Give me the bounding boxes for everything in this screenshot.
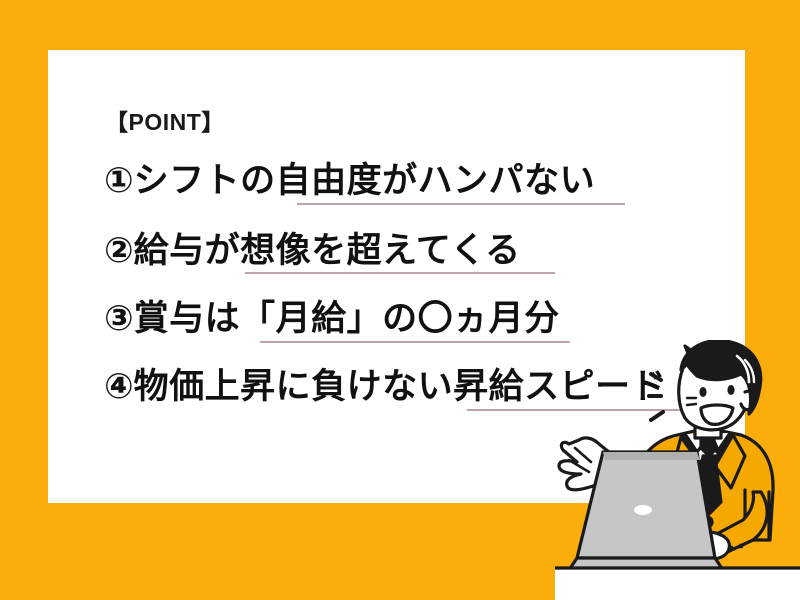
list-item-plain-text: 給与が (134, 231, 241, 270)
list-item-marked-text: 自由度がハンパない (276, 161, 596, 200)
list-item-marked-text: 「月給」の〇ヵ月分 (240, 299, 560, 338)
list-item-number: ④ (104, 367, 134, 406)
list-item-plain-text: 賞与は (134, 299, 241, 338)
highlight-underline (260, 341, 570, 343)
businessman-illustration (555, 340, 800, 600)
list-item-plain-text: シフトの (134, 161, 276, 200)
list-item-number: ③ (104, 299, 134, 338)
highlight-underline (245, 272, 555, 274)
list-item-plain-text: 物価上昇に負けない (134, 367, 454, 406)
list-item-number: ① (104, 161, 134, 200)
list-item: ②給与が想像を超えてくる (104, 233, 521, 268)
slide-canvas: 【POINT】 ①シフトの自由度がハンパない ②給与が想像を超えてくる ③賞与は… (0, 0, 800, 600)
list-item-number: ② (104, 231, 134, 270)
list-item: ①シフトの自由度がハンパない (104, 163, 595, 198)
list-item: ③賞与は「月給」の〇ヵ月分 (104, 301, 560, 336)
highlight-underline (297, 203, 625, 205)
page-title: 【POINT】 (105, 111, 225, 134)
list-item-marked-text: 想像を超えてくる (240, 231, 521, 270)
